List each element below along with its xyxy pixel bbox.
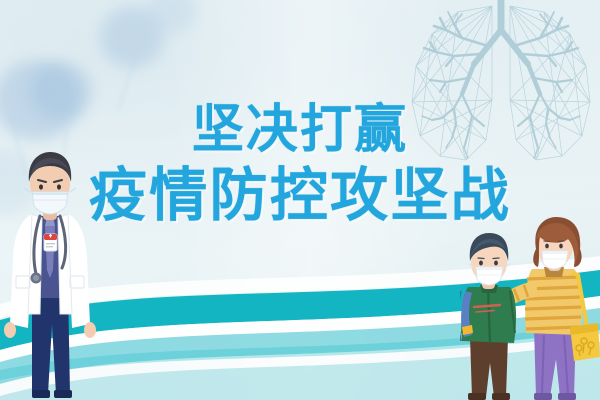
molecule-blob-2 <box>30 62 92 120</box>
lungs-wireframe-icon <box>396 0 600 180</box>
mother-and-child-illustration <box>460 215 600 400</box>
covid-prevention-poster: 坚决打赢 疫情防控攻坚战 <box>0 0 600 400</box>
doctor-illustration <box>2 138 98 400</box>
